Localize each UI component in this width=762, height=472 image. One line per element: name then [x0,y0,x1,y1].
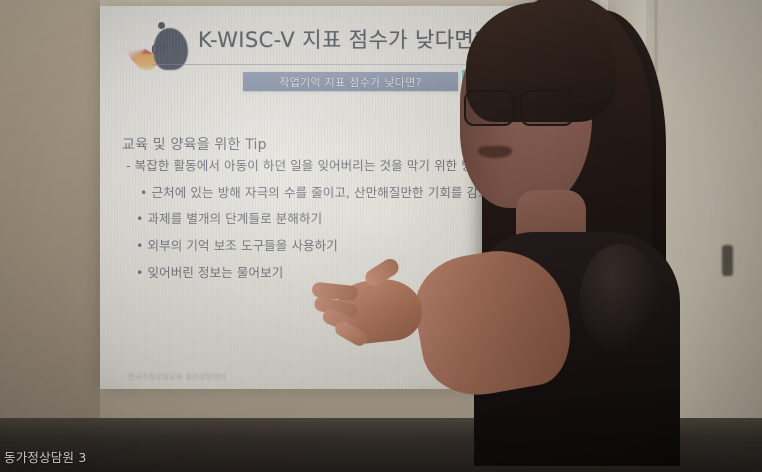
glasses-lens-right [520,90,574,126]
chapter-number: 04 [142,42,176,59]
presentation-photo: 04 K-WISC-V 지표 점수가 낮다면? 작업기억 지표 점수가 낮다면?… [0,0,762,472]
shoulder-highlight [580,244,660,354]
slide-footer-note: 한국가정상담교육 심리상담센터 [128,372,388,382]
presenter [430,0,730,434]
hand [312,256,440,352]
mouth [478,146,512,158]
body-heading: 교육 및 양육을 위한 Tip [122,134,267,154]
glasses-lens-left [464,90,514,126]
glasses-bridge [510,100,522,102]
sub-banner: 작업기억 지표 점수가 낮다면? [243,72,458,91]
glasses-icon [464,90,576,124]
chapter-logo: 04 [128,20,190,70]
logo-dot-icon [158,22,165,29]
sub-banner-label: 작업기억 지표 점수가 낮다면? [279,74,422,90]
overlay-caption: 동가정상담원 3 [4,447,87,466]
